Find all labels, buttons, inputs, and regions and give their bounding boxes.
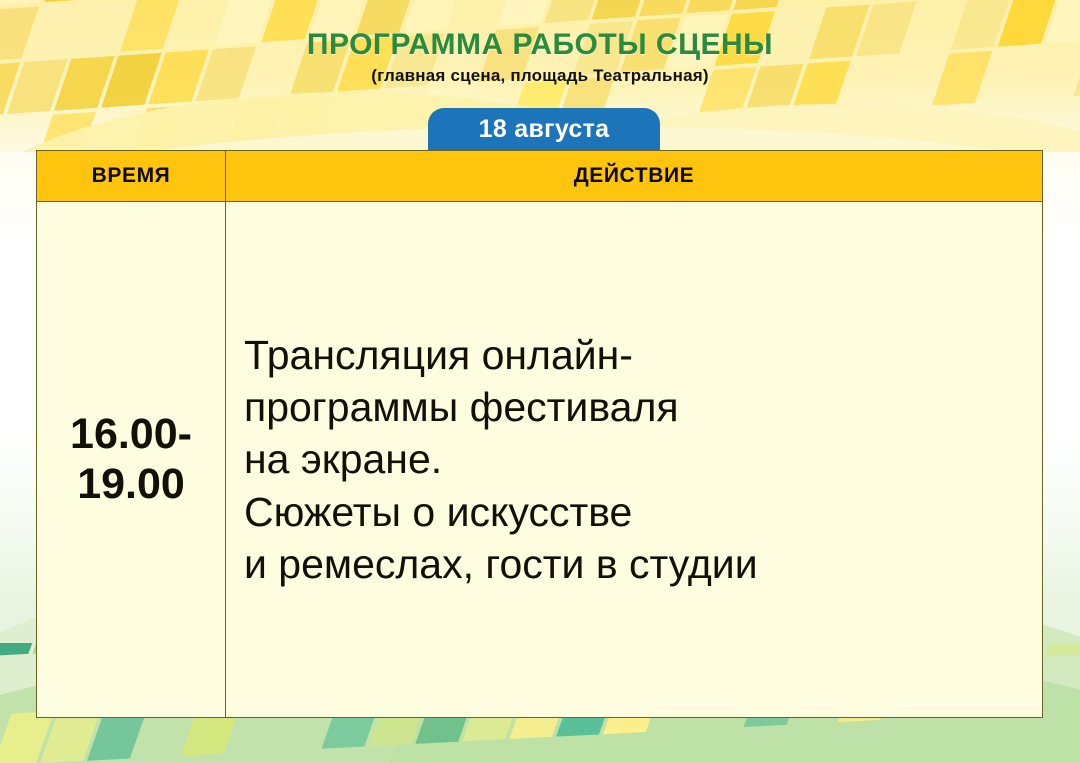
schedule-table: ВРЕМЯ ДЕЙСТВИЕ 16.00- 19.00 Трансляция о…	[36, 150, 1043, 718]
decorative-tile	[1045, 643, 1080, 657]
column-header-action: ДЕЙСТВИЕ	[226, 151, 1043, 202]
poster-heading: ПРОГРАММА РАБОТЫ СЦЕНЫ (главная сцена, п…	[0, 28, 1080, 86]
schedule-table-body: 16.00- 19.00 Трансляция онлайн- программ…	[37, 202, 1043, 718]
decorative-tile	[733, 0, 793, 10]
cell-time: 16.00- 19.00	[37, 202, 226, 718]
cell-action: Трансляция онлайн- программы фестиваля н…	[226, 202, 1043, 718]
table-row: 16.00- 19.00 Трансляция онлайн- программ…	[37, 202, 1043, 718]
date-badge-label: 18 августа	[479, 117, 610, 144]
table-header-row: ВРЕМЯ ДЕЙСТВИЕ	[37, 151, 1043, 202]
page-title: ПРОГРАММА РАБОТЫ СЦЕНЫ	[0, 28, 1080, 62]
schedule-table-head: ВРЕМЯ ДЕЙСТВИЕ	[37, 151, 1043, 202]
poster-canvas: ПРОГРАММА РАБОТЫ СЦЕНЫ (главная сцена, п…	[0, 0, 1080, 763]
column-header-time: ВРЕМЯ	[37, 151, 226, 202]
decorative-tile	[0, 118, 1, 152]
date-badge: 18 августа	[428, 108, 660, 152]
page-subtitle: (главная сцена, площадь Театральная)	[0, 66, 1080, 86]
